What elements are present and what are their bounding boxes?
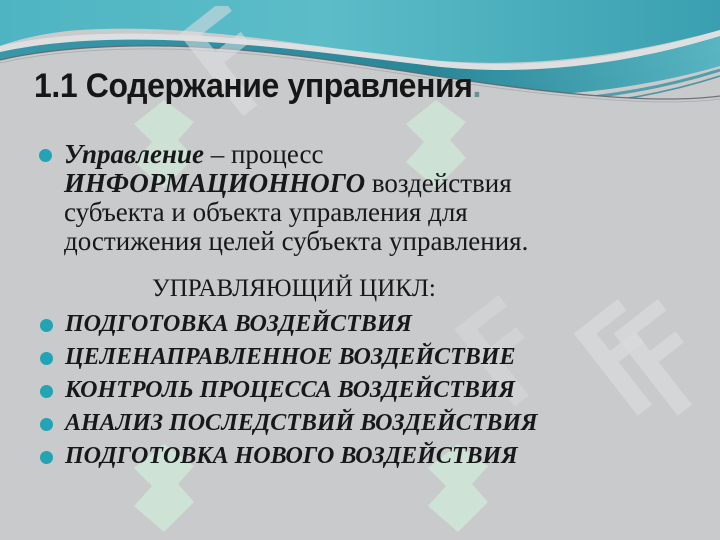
list-item: ПОДГОТОВКА НОВОГО ВОЗДЕЙСТВИЯ [0, 440, 720, 473]
definition-line-1-rest: – процесс [204, 139, 324, 169]
header-wave-decoration [0, 0, 720, 130]
filled-circle-bullet-icon [40, 385, 53, 398]
definition-line-4: достижения целей субъекта управления. [64, 227, 720, 256]
cycle-heading: УПРАВЛЯЮЩИЙ ЦИКЛ: [0, 256, 720, 304]
list-item-label: ПОДГОТОВКА ВОЗДЕЙСТВИЯ [65, 311, 412, 337]
definition-block: Управление – процесс ИНФОРМАЦИОННОГО воз… [0, 140, 720, 256]
list-item-label: ЦЕЛЕНАПРАВЛЕННОЕ ВОЗДЕЙСТВИЕ [65, 344, 515, 370]
list-item: АНАЛИЗ ПОСЛЕДСТВИЙ ВОЗДЕЙСТВИЯ [0, 407, 720, 440]
slide-canvas: 1.1 Содержание управления. Управление – … [0, 0, 720, 540]
list-item: КОНТРОЛЬ ПРОЦЕССА ВОЗДЕЙСТВИЯ [0, 374, 720, 407]
cycle-list: ПОДГОТОВКА ВОЗДЕЙСТВИЯ ЦЕЛЕНАПРАВЛЕННОЕ … [0, 304, 720, 473]
definition-line-3: субъекта и объекта управления для [64, 198, 720, 227]
list-item-label: ПОДГОТОВКА НОВОГО ВОЗДЕЙСТВИЯ [65, 443, 518, 469]
slide-body: Управление – процесс ИНФОРМАЦИОННОГО воз… [0, 140, 720, 473]
page-title: 1.1 Содержание управления. [34, 66, 481, 106]
filled-circle-bullet-icon [39, 149, 52, 162]
page-title-text: 1.1 Содержание управления [34, 67, 473, 105]
page-title-period: . [473, 67, 482, 105]
definition-emphasis: ИНФОРМАЦИОННОГО [64, 168, 365, 198]
filled-circle-bullet-icon [40, 319, 53, 332]
list-item-label: КОНТРОЛЬ ПРОЦЕССА ВОЗДЕЙСТВИЯ [65, 377, 515, 403]
filled-circle-bullet-icon [40, 451, 53, 464]
filled-circle-bullet-icon [40, 352, 53, 365]
definition-line-1: Управление – процесс [64, 140, 720, 169]
list-item-label: АНАЛИЗ ПОСЛЕДСТВИЙ ВОЗДЕЙСТВИЯ [65, 410, 538, 436]
list-item: ПОДГОТОВКА ВОЗДЕЙСТВИЯ [0, 308, 720, 341]
definition-line-2-rest: воздействия [365, 168, 512, 198]
list-item: ЦЕЛЕНАПРАВЛЕННОЕ ВОЗДЕЙСТВИЕ [0, 341, 720, 374]
definition-term: Управление [64, 139, 204, 169]
filled-circle-bullet-icon [40, 418, 53, 431]
definition-line-2: ИНФОРМАЦИОННОГО воздействия [64, 169, 720, 198]
